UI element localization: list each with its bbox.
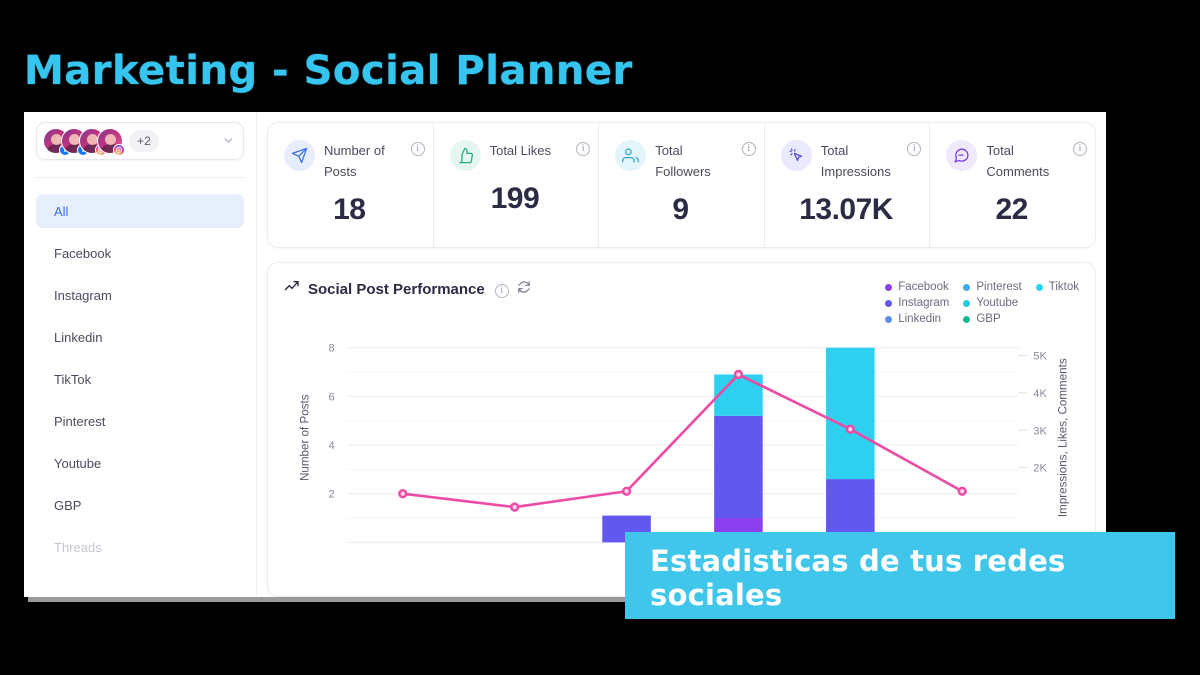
slide-root: Marketing - Social Planner f f ◎ [0, 0, 1200, 675]
stat-label: Total Likes [490, 140, 551, 161]
chart-header: Social Post Performance i Facebook Pinte… [284, 279, 1079, 325]
stat-number-of-posts: Number of Posts i 18 [268, 123, 433, 247]
stat-total-comments: Total Comments i 22 [929, 123, 1095, 247]
avatar[interactable]: ◎ [97, 128, 123, 154]
app-screenshot-panel: f f ◎ ◎ +2 [24, 112, 1106, 597]
sidebar-item-tiktok[interactable]: TikTok [36, 362, 244, 396]
legend-dot [1036, 284, 1043, 291]
svg-text:2: 2 [329, 489, 335, 501]
sidebar-item-instagram[interactable]: Instagram [36, 278, 244, 312]
sidebar-item-label: Instagram [54, 288, 112, 303]
sidebar-item-label: Threads [54, 540, 102, 555]
sidebar-item-label: Linkedin [54, 330, 102, 345]
cursor-click-icon [781, 140, 812, 171]
stat-label: Total Followers [655, 140, 733, 182]
sidebar-item-facebook[interactable]: Facebook [36, 236, 244, 270]
legend-label: Youtube [976, 297, 1018, 309]
trend-up-icon [284, 279, 300, 300]
svg-text:3K: 3K [1033, 425, 1047, 437]
svg-text:8: 8 [329, 343, 335, 355]
info-icon[interactable]: i [907, 142, 921, 156]
legend-item-linkedin[interactable]: Linkedin [885, 313, 949, 325]
main-content: Number of Posts i 18 Total Likes i 199 [257, 112, 1106, 597]
legend-label: Pinterest [976, 281, 1021, 293]
chart-legend: Facebook Pinterest Tiktok Instagram Yout… [885, 279, 1079, 325]
caption-banner-text: Estadisticas de tus redes sociales [650, 545, 1175, 613]
sidebar-item-all[interactable]: All [36, 194, 244, 228]
sidebar: f f ◎ ◎ +2 [24, 112, 257, 597]
stat-total-impressions: Total Impressions i 13.07K [764, 123, 930, 247]
svg-text:Number of Posts: Number of Posts [298, 394, 311, 481]
stat-total-likes: Total Likes i 199 [433, 123, 599, 247]
sidebar-item-label: All [54, 204, 68, 219]
info-icon[interactable]: i [495, 284, 509, 298]
legend-dot [885, 316, 892, 323]
sidebar-item-label: Facebook [54, 246, 111, 261]
refresh-icon[interactable] [517, 280, 531, 299]
users-icon [615, 140, 646, 171]
sidebar-item-label: TikTok [54, 372, 91, 387]
legend-item-facebook[interactable]: Facebook [885, 281, 949, 293]
account-picker[interactable]: f f ◎ ◎ +2 [36, 122, 244, 160]
sidebar-divider [36, 177, 244, 178]
stat-value: 199 [450, 182, 591, 216]
sidebar-item-label: Youtube [54, 456, 101, 471]
instagram-badge-icon: ◎ [113, 144, 125, 156]
svg-text:5K: 5K [1033, 351, 1047, 363]
legend-dot [963, 300, 970, 307]
stat-label: Total Comments [986, 140, 1064, 182]
stat-value: 9 [615, 193, 756, 227]
stat-label: Total Impressions [821, 140, 899, 182]
stat-label: Number of Posts [324, 140, 402, 182]
stat-total-followers: Total Followers i 9 [598, 123, 764, 247]
legend-item-instagram[interactable]: Instagram [885, 297, 949, 309]
stat-value: 18 [284, 193, 425, 227]
legend-label: GBP [976, 313, 1000, 325]
info-icon[interactable]: i [411, 142, 425, 156]
stat-value: 13.07K [781, 193, 922, 227]
sidebar-item-pinterest[interactable]: Pinterest [36, 404, 244, 438]
svg-text:Impressions, Likes, Comments: Impressions, Likes, Comments [1057, 358, 1070, 517]
slide-title: Marketing - Social Planner [24, 48, 633, 94]
info-icon[interactable]: i [742, 142, 756, 156]
svg-text:6: 6 [329, 391, 335, 403]
legend-spacer [1036, 313, 1079, 325]
legend-dot [963, 316, 970, 323]
legend-dot [885, 300, 892, 307]
sidebar-item-threads: Threads [36, 530, 244, 564]
stats-summary-card: Number of Posts i 18 Total Likes i 199 [267, 122, 1096, 248]
avatar-stack: f f ◎ ◎ [43, 128, 115, 154]
legend-item-tiktok[interactable]: Tiktok [1036, 281, 1079, 293]
chevron-down-icon[interactable] [222, 134, 235, 149]
legend-item-gbp[interactable]: GBP [963, 313, 1021, 325]
legend-item-pinterest[interactable]: Pinterest [963, 281, 1021, 293]
legend-dot [885, 284, 892, 291]
svg-text:4K: 4K [1033, 388, 1047, 400]
legend-spacer [1036, 297, 1079, 309]
info-icon[interactable]: i [1073, 142, 1087, 156]
legend-label: Instagram [898, 297, 949, 309]
svg-text:4: 4 [329, 440, 335, 452]
stat-value: 22 [946, 193, 1087, 227]
sidebar-item-label: Pinterest [54, 414, 105, 429]
sidebar-item-youtube[interactable]: Youtube [36, 446, 244, 480]
legend-label: Tiktok [1049, 281, 1079, 293]
comment-icon [946, 140, 977, 171]
more-accounts-chip[interactable]: +2 [129, 130, 159, 152]
legend-item-youtube[interactable]: Youtube [963, 297, 1021, 309]
sidebar-item-gbp[interactable]: GBP [36, 488, 244, 522]
sidebar-item-label: GBP [54, 498, 81, 513]
legend-dot [963, 284, 970, 291]
sidebar-item-linkedin[interactable]: Linkedin [36, 320, 244, 354]
legend-label: Linkedin [898, 313, 941, 325]
chart-title: Social Post Performance [308, 281, 485, 298]
caption-banner: Estadisticas de tus redes sociales [625, 532, 1175, 619]
svg-text:2K: 2K [1033, 463, 1047, 475]
legend-label: Facebook [898, 281, 949, 293]
thumbs-up-icon [450, 140, 481, 171]
info-icon[interactable]: i [576, 142, 590, 156]
send-icon [284, 140, 315, 171]
